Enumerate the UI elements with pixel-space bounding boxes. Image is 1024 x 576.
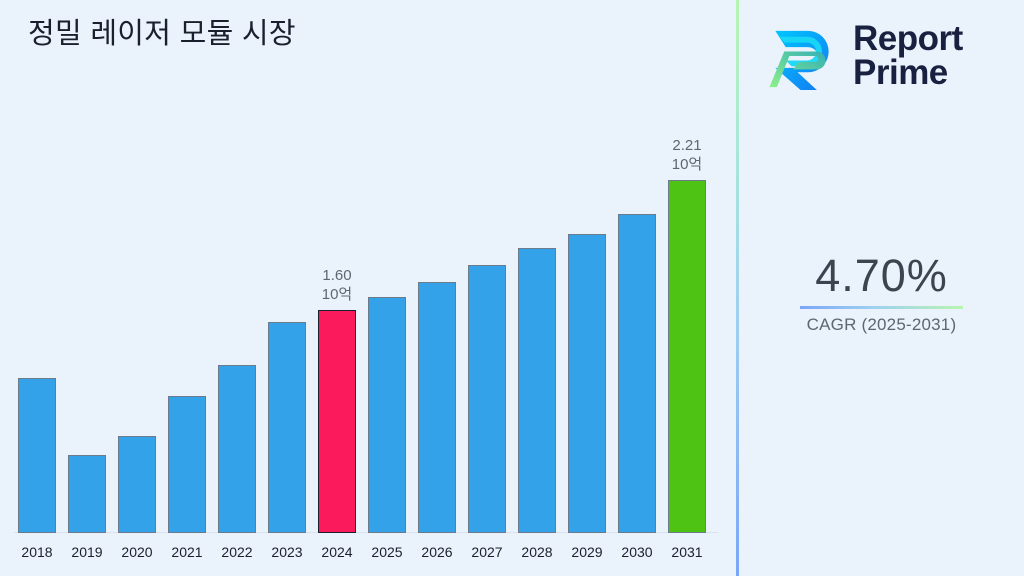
bar-group-2018: 2018 (18, 335, 56, 533)
bar-group-2020: 2020 (118, 393, 156, 533)
x-axis-label-2029: 2029 (571, 544, 602, 560)
bar-2021[interactable] (168, 396, 206, 533)
report-prime-wordmark: Report Prime (853, 22, 963, 91)
slide-canvas: 정밀 레이저 모듈 시장 2018201920202021202220231.6… (0, 0, 1024, 576)
cagr-block: 4.70% CAGR (2025-2031) (739, 252, 1024, 335)
x-axis-label-2031: 2031 (671, 544, 702, 560)
bar-group-2026: 2026 (418, 239, 456, 533)
logo-line-2: Prime (853, 56, 963, 90)
x-axis-label-2026: 2026 (421, 544, 452, 560)
bar-group-2030: 2030 (618, 171, 656, 533)
x-axis-label-2027: 2027 (471, 544, 502, 560)
x-axis-label-2022: 2022 (221, 544, 252, 560)
x-axis-label-2025: 2025 (371, 544, 402, 560)
bar-group-2025: 2025 (368, 254, 406, 533)
bar-2025[interactable] (368, 297, 406, 533)
bar-group-2024: 1.6010억2024 (318, 267, 356, 533)
cagr-divider-rule (800, 306, 963, 309)
bar-group-2023: 2023 (268, 279, 306, 533)
logo-line-1: Report (853, 22, 963, 56)
bar-value-unit-2031: 10억 (672, 155, 703, 174)
x-axis-label-2019: 2019 (71, 544, 102, 560)
report-prime-logo: Report Prime (765, 12, 1009, 100)
bar-chart-plot: 2018201920202021202220231.6010억202420252… (0, 0, 737, 576)
report-prime-logo-icon (765, 19, 839, 93)
x-axis-label-2023: 2023 (271, 544, 302, 560)
bar-2027[interactable] (468, 265, 506, 533)
bar-group-2029: 2029 (568, 191, 606, 533)
bar-2018[interactable] (18, 378, 56, 533)
bar-group-2021: 2021 (168, 353, 206, 533)
x-axis-label-2018: 2018 (21, 544, 52, 560)
bar-2022[interactable] (218, 365, 256, 533)
bar-group-2028: 2028 (518, 205, 556, 533)
bar-2028[interactable] (518, 248, 556, 533)
bar-value-unit-2024: 10억 (322, 285, 353, 304)
x-axis-label-2021: 2021 (171, 544, 202, 560)
x-axis-label-2024: 2024 (321, 544, 352, 560)
x-axis-label-2020: 2020 (121, 544, 152, 560)
bar-value-number-2024: 1.60 (322, 266, 353, 285)
chart-panel: 정밀 레이저 모듈 시장 2018201920202021202220231.6… (0, 0, 737, 576)
cagr-value: 4.70% (739, 252, 1024, 299)
bar-group-2019: 2019 (68, 412, 106, 533)
bar-2020[interactable] (118, 436, 156, 533)
x-axis-label-2028: 2028 (521, 544, 552, 560)
bar-group-2022: 2022 (218, 322, 256, 533)
bar-group-2027: 2027 (468, 222, 506, 533)
bar-value-label-2024: 1.6010억 (322, 266, 353, 304)
bar-2023[interactable] (268, 322, 306, 533)
bar-value-label-2031: 2.2110억 (672, 136, 703, 174)
x-axis-label-2030: 2030 (621, 544, 652, 560)
side-panel: Report Prime 4.70% CAGR (2025-2031) (739, 0, 1024, 576)
bar-2031[interactable] (668, 180, 706, 533)
bar-group-2031: 2.2110억2031 (668, 137, 706, 533)
bar-2030[interactable] (618, 214, 656, 533)
bar-2026[interactable] (418, 282, 456, 533)
bar-2019[interactable] (68, 455, 106, 533)
bar-2024[interactable] (318, 310, 356, 533)
cagr-caption: CAGR (2025-2031) (739, 315, 1024, 335)
bar-2029[interactable] (568, 234, 606, 533)
bar-value-number-2031: 2.21 (672, 136, 703, 155)
